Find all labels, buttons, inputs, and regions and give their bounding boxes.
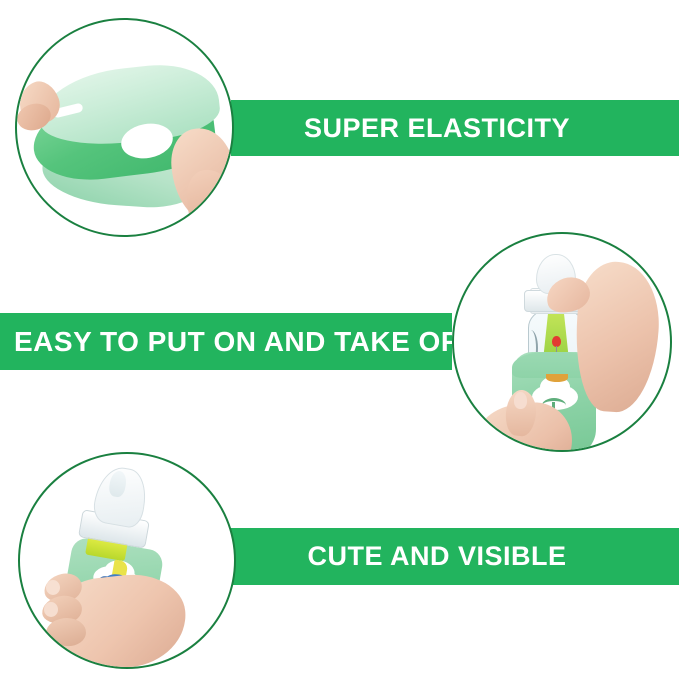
feature-banner-easy-to-put-on: EASY TO PUT ON AND TAKE OFF: [0, 313, 452, 370]
fingernail-middle: [44, 602, 58, 617]
banner-label-cute-and-visible: CUTE AND VISIBLE: [307, 543, 566, 570]
feature-banner-super-elasticity: SUPER ELASTICITY: [231, 100, 679, 156]
hand-finger-ring: [46, 617, 87, 646]
feature-photo-super-elasticity: [15, 18, 234, 237]
right-hand-fingers: [187, 170, 233, 237]
banner-label-easy-to-put-on: EASY TO PUT ON AND TAKE OFF: [14, 328, 476, 356]
left-hand-fingernail: [514, 392, 527, 409]
feature-photo-cute-and-visible: [18, 452, 236, 669]
feature-banner-cute-and-visible: CUTE AND VISIBLE: [231, 528, 679, 585]
photo-sleeve-being-fitted: [454, 234, 670, 450]
banner-label-super-elasticity: SUPER ELASTICITY: [304, 115, 570, 142]
photo-sleeve-stretched: [17, 20, 232, 235]
fingernail-index: [46, 580, 60, 595]
photo-bottle-in-hand: [20, 454, 234, 667]
feature-photo-easy-to-put-on: [452, 232, 672, 452]
infographic-canvas: SUPER ELASTICITY EASY TO PUT ON AND TAKE…: [0, 0, 679, 679]
sleeve-boat-graphic: [546, 374, 568, 382]
